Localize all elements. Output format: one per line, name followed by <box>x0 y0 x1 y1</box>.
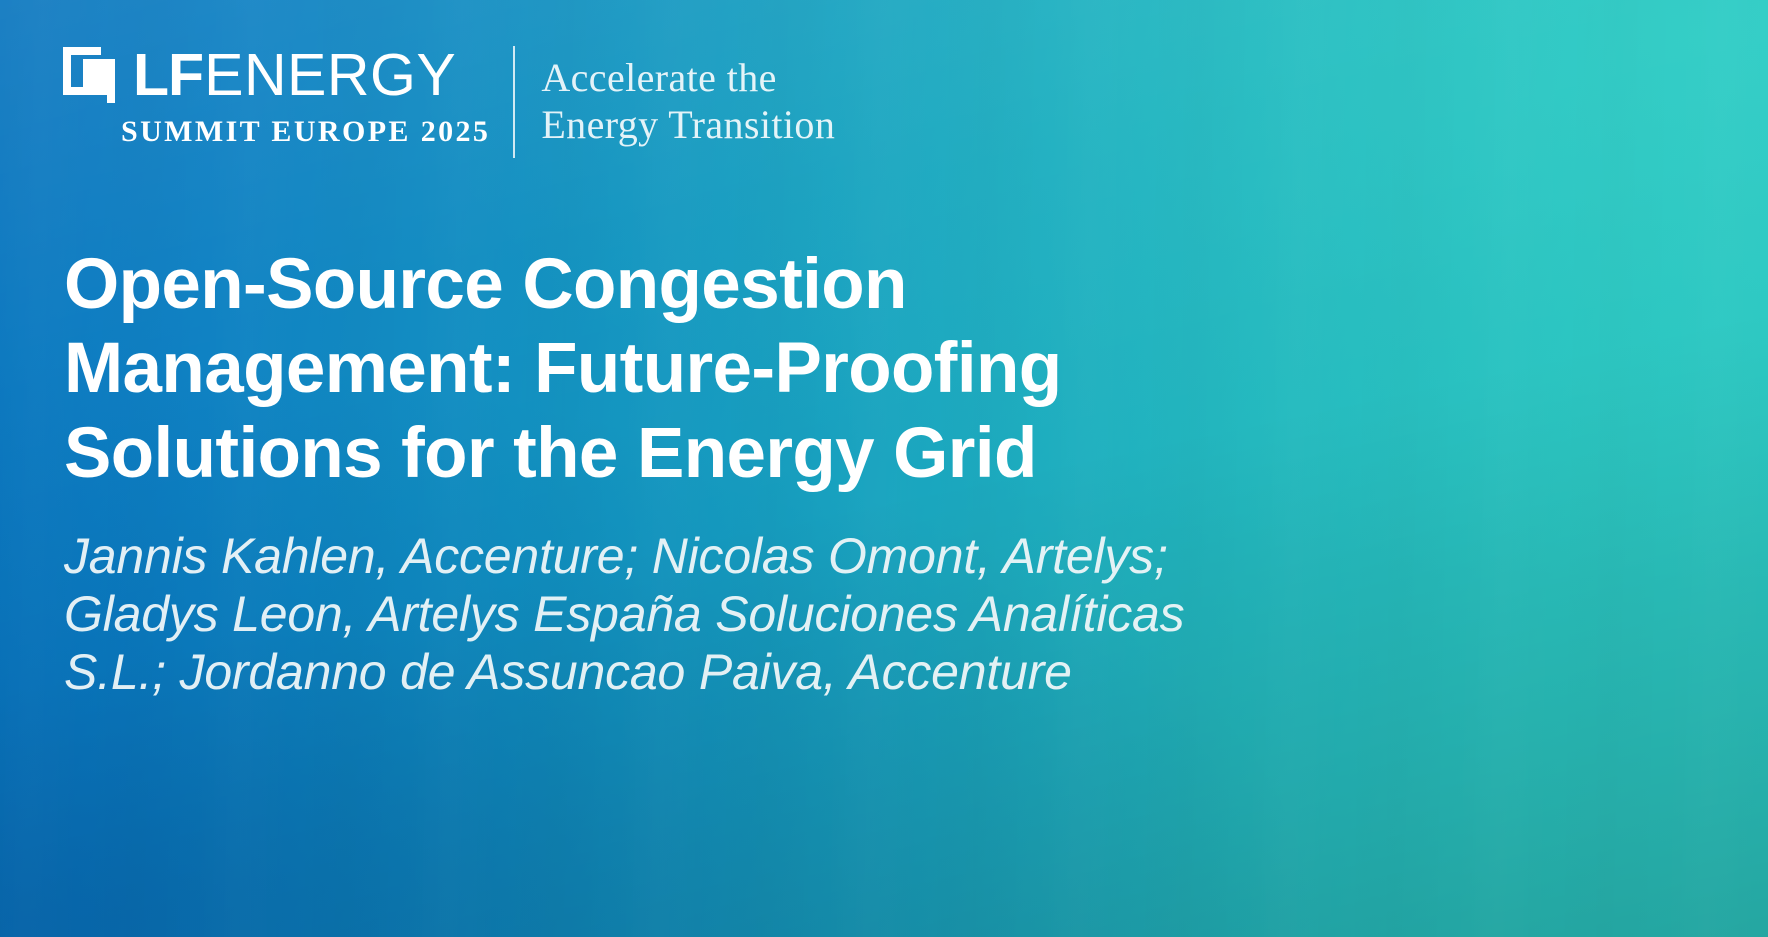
page-title: Open-Source Congestion Management: Futur… <box>64 243 1184 496</box>
event-name: SUMMIT EUROPE 2025 <box>121 115 490 149</box>
title-line: Solutions for the Energy Grid <box>64 412 1184 496</box>
title-line: Management: Future-Proofing <box>64 327 1184 411</box>
brand-tagline: Accelerate the Energy Transition <box>541 54 835 148</box>
title-line: Open-Source Congestion <box>64 243 1184 327</box>
tagline-line-1: Accelerate the <box>541 54 835 101</box>
wordmark: LF ENERGY <box>133 46 456 105</box>
tagline-line-2: Energy Transition <box>541 101 835 148</box>
logo-wordmark-row: LF ENERGY <box>63 44 490 106</box>
author-line: S.L.; Jordanno de Assuncao Paiva, Accent… <box>64 643 1324 701</box>
lf-energy-bracket-mark-icon <box>63 47 121 103</box>
author-line: Gladys Leon, Artelys España Soluciones A… <box>64 585 1324 643</box>
lf-energy-logo: LF ENERGY SUMMIT EUROPE 2025 <box>63 44 490 149</box>
wordmark-lf: LF <box>133 46 203 105</box>
brand-lockup: LF ENERGY SUMMIT EUROPE 2025 Accelerate … <box>63 44 835 158</box>
vertical-divider <box>513 46 515 158</box>
author-line: Jannis Kahlen, Accenture; Nicolas Omont,… <box>64 527 1324 585</box>
wordmark-energy: ENERGY <box>204 46 456 105</box>
author-list: Jannis Kahlen, Accenture; Nicolas Omont,… <box>64 527 1324 701</box>
presentation-title-slide: LF ENERGY SUMMIT EUROPE 2025 Accelerate … <box>0 0 1768 937</box>
